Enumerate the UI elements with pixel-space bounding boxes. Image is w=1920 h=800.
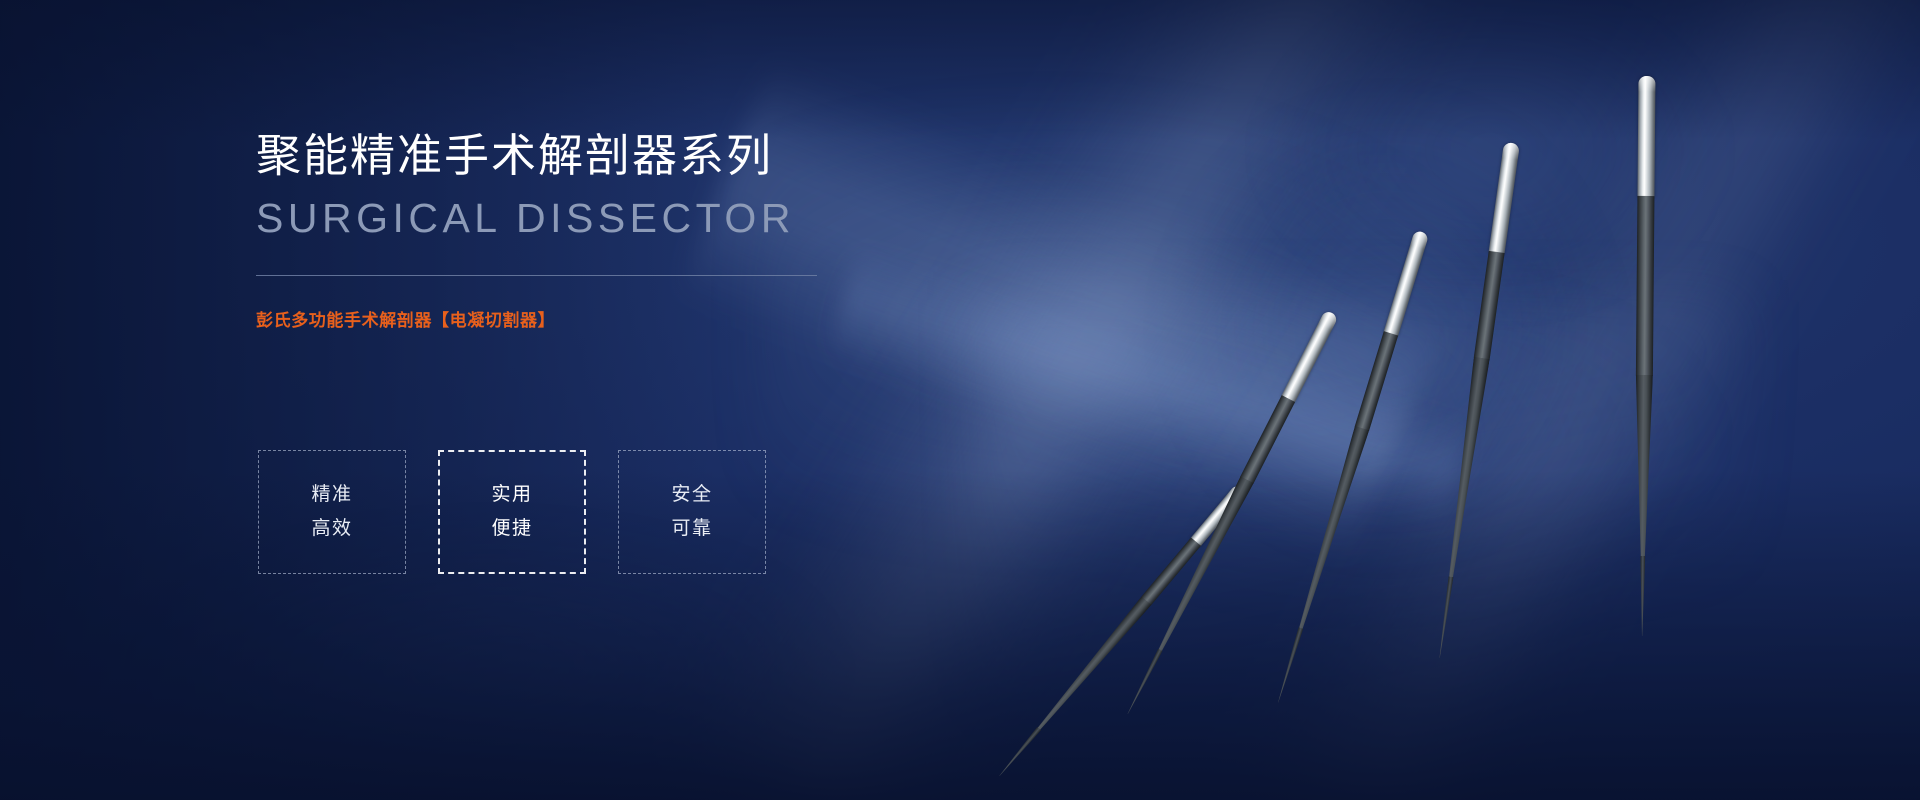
page-subtitle-en: SURGICAL DISSECTOR (256, 192, 956, 244)
hero-banner: 聚能精准手术解剖器系列 SURGICAL DISSECTOR 彭氏多功能手术解剖… (0, 0, 1920, 800)
feature-box-list: 精准 高效 实用 便捷 安全 可靠 (258, 450, 766, 574)
background-vignette-top (0, 0, 1920, 140)
feature-box-practical[interactable]: 实用 便捷 (438, 450, 586, 574)
divider (256, 275, 817, 276)
product-name-label: 彭氏多功能手术解剖器【电凝切割器】 (256, 308, 956, 334)
feature-label-line2: 高效 (311, 517, 352, 541)
feature-label-line1: 实用 (491, 483, 532, 507)
feature-box-safety[interactable]: 安全 可靠 (618, 450, 766, 574)
feature-box-precision[interactable]: 精准 高效 (258, 450, 406, 574)
feature-label-line1: 安全 (671, 483, 712, 507)
page-title: 聚能精准手术解剖器系列 (256, 126, 956, 186)
hero-text-block: 聚能精准手术解剖器系列 SURGICAL DISSECTOR 彭氏多功能手术解剖… (256, 126, 956, 334)
feature-label-line1: 精准 (311, 483, 352, 507)
feature-label-line2: 可靠 (671, 517, 712, 541)
feature-label-line2: 便捷 (491, 517, 532, 541)
